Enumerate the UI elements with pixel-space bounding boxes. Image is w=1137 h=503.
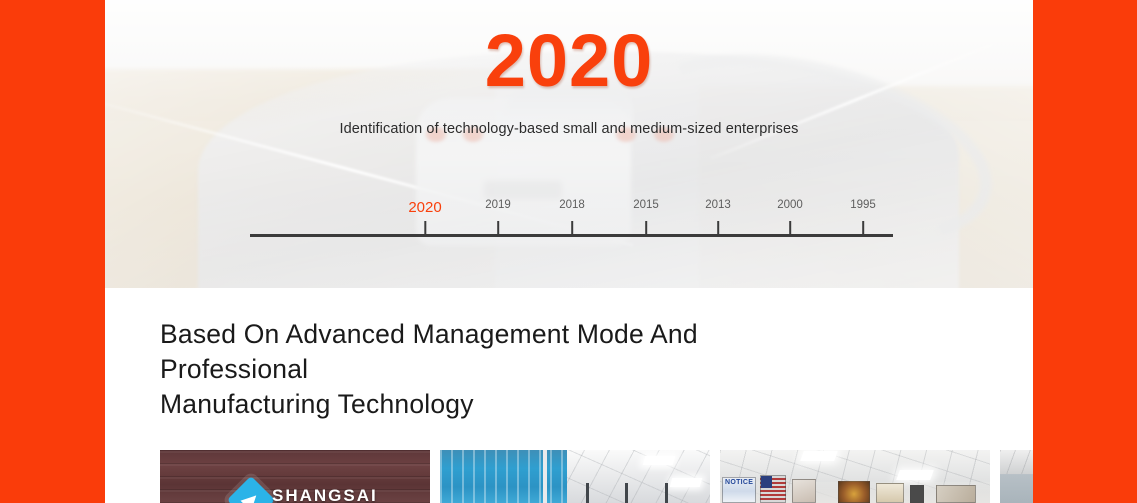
wall-poster — [936, 485, 976, 503]
window-mullion — [625, 483, 628, 503]
ceiling-tiles — [1000, 450, 1033, 474]
notice-poster-text: NOTICE — [725, 479, 753, 487]
timeline-tick-mark — [717, 221, 719, 234]
glass-frame — [543, 450, 547, 503]
timeline-tick-mark — [571, 221, 573, 234]
timeline-tick-mark — [789, 221, 791, 234]
flag-canton — [761, 476, 772, 488]
blue-glass-panels — [440, 450, 567, 503]
timeline-tick-mark — [497, 221, 499, 234]
heading-line-2: Professional — [160, 354, 308, 384]
hero-section: 2020 Identification of technology-based … — [105, 0, 1033, 288]
timeline-item-1995[interactable]: 1995 — [850, 200, 876, 234]
timeline-item-label: 2019 — [485, 200, 511, 212]
office-wall: NOTICE — [720, 482, 990, 503]
wall-poster — [838, 481, 870, 503]
ceiling-light-icon — [896, 470, 934, 480]
page-title: Based On Advanced Management Mode And Pr… — [105, 288, 1033, 422]
notice-poster: NOTICE — [722, 477, 756, 503]
company-logo-text: SHANGSAI — [272, 486, 378, 503]
page-root: 2020 Identification of technology-based … — [0, 0, 1137, 503]
ceiling-light-icon — [642, 456, 675, 465]
partial-photo — [1000, 450, 1033, 503]
timeline-tick-mark — [424, 221, 426, 234]
flag-poster — [760, 475, 786, 503]
gallery-thumbnail-blue-glass-office[interactable] — [440, 450, 710, 503]
ceiling-light-icon — [670, 478, 703, 487]
hero-year-title: 2020 — [105, 0, 1033, 98]
ceiling-light-icon — [800, 451, 838, 461]
timeline: 2020201920182015201320001995 — [105, 200, 1033, 260]
left-orange-band — [0, 0, 105, 503]
timeline-item-2020[interactable]: 2020 — [408, 200, 441, 234]
logo-triangle-icon — [240, 490, 261, 503]
timeline-item-2013[interactable]: 2013 — [705, 200, 731, 234]
page-canvas: 2020 Identification of technology-based … — [105, 0, 1033, 503]
wall-poster — [876, 483, 904, 503]
timeline-tick-mark — [645, 221, 647, 234]
main-section: Based On Advanced Management Mode And Pr… — [105, 288, 1033, 503]
timeline-tick-mark — [862, 221, 864, 234]
heading-line-1: Based On Advanced Management Mode And — [160, 319, 698, 349]
ceiling-tiles — [559, 450, 710, 503]
timeline-item-2000[interactable]: 2000 — [777, 200, 803, 234]
window-mullion — [586, 483, 589, 503]
timeline-item-label: 1995 — [850, 200, 876, 212]
window-mullion — [665, 483, 668, 503]
timeline-item-label: 2013 — [705, 200, 731, 212]
timeline-item-2019[interactable]: 2019 — [485, 200, 511, 234]
timeline-item-label: 2015 — [633, 200, 659, 212]
photo-gallery: SHANGSAI — [160, 450, 1033, 503]
timeline-item-2015[interactable]: 2015 — [633, 200, 659, 234]
timeline-axis-line — [250, 234, 893, 237]
timeline-item-2018[interactable]: 2018 — [559, 200, 585, 234]
timeline-item-label: 2020 — [408, 200, 441, 215]
heading-line-3: Manufacturing Technology — [160, 389, 474, 419]
hero-subtitle: Identification of technology-based small… — [105, 121, 1033, 137]
gallery-thumbnail-wood-wall-logo[interactable]: SHANGSAI — [160, 450, 430, 503]
right-orange-band — [1033, 0, 1137, 503]
wall-poster — [792, 479, 816, 503]
timeline-item-label: 2000 — [777, 200, 803, 212]
timeline-item-label: 2018 — [559, 200, 585, 212]
wall-poster — [910, 485, 924, 503]
gallery-thumbnail-partial[interactable] — [1000, 450, 1033, 503]
gallery-thumbnail-office-posters[interactable]: NOTICE — [720, 450, 990, 503]
hero-content: 2020 Identification of technology-based … — [105, 0, 1033, 137]
